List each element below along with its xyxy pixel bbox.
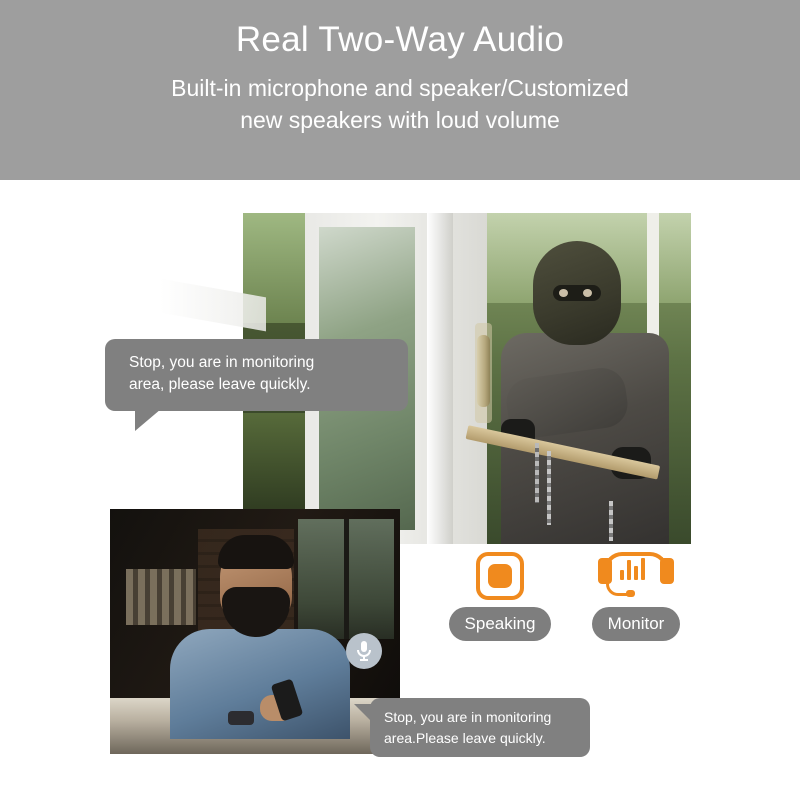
chain-detail-2 xyxy=(547,451,551,525)
page-title: Real Two-Way Audio xyxy=(236,18,564,62)
window-blinds xyxy=(126,569,196,625)
page-subtitle-line-1: Built-in microphone and speaker/Customiz… xyxy=(171,72,629,104)
promo-page: Real Two-Way Audio Built-in microphone a… xyxy=(0,0,800,800)
door-edge xyxy=(427,213,453,544)
speaking-label[interactable]: Speaking xyxy=(449,607,552,641)
user-wristwatch xyxy=(228,711,254,725)
speech-bubble-bottom: Stop, you are in monitoring area.Please … xyxy=(370,698,590,757)
speaker-square-icon[interactable] xyxy=(440,545,560,607)
burglar-figure xyxy=(495,241,675,544)
speech-bubble-bottom-line-1: Stop, you are in monitoring xyxy=(384,707,578,728)
burglar-eye-left xyxy=(559,289,568,297)
burglar-eye-right xyxy=(583,289,592,297)
speech-bubble-top: Stop, you are in monitoring area, please… xyxy=(105,339,408,411)
header-band: Real Two-Way Audio Built-in microphone a… xyxy=(0,0,800,180)
audio-controls: Speaking Monitor xyxy=(440,545,700,663)
user-shirt xyxy=(170,629,350,739)
speaking-control[interactable]: Speaking xyxy=(440,545,560,641)
window-mullion xyxy=(344,519,349,639)
speech-bubble-top-line-1: Stop, you are in monitoring xyxy=(129,352,392,374)
chain-detail-3 xyxy=(609,501,613,541)
monitor-control[interactable]: Monitor xyxy=(576,545,696,641)
door-handle xyxy=(477,335,490,407)
page-subtitle-line-2: new speakers with loud volume xyxy=(240,104,560,136)
headset-icon[interactable] xyxy=(576,545,696,607)
speech-bubble-top-line-2: area, please leave quickly. xyxy=(129,374,392,396)
monitor-label[interactable]: Monitor xyxy=(592,607,681,641)
user-hair xyxy=(218,535,294,569)
microphone-icon xyxy=(346,633,382,669)
chain-detail-1 xyxy=(535,443,539,503)
speech-bubble-bottom-line-2: area.Please leave quickly. xyxy=(384,728,578,749)
